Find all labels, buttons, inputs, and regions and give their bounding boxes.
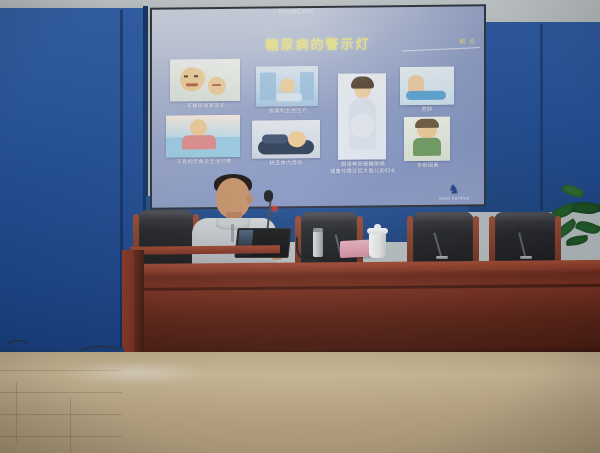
slide-caption-illness-stress: 疾病和生活压力	[252, 107, 324, 115]
slide-caption-family-history: 有糖尿病家族史	[160, 102, 252, 110]
slide-tile-no-exercise	[252, 120, 320, 159]
novo-nordisk-logo-text: novo nordisk	[432, 195, 476, 200]
floor-reflection	[60, 360, 210, 386]
slide-caption-no-exercise: 缺乏体力活动	[248, 159, 324, 167]
tile-art-no-exercise	[252, 120, 320, 159]
chair-frame-right	[555, 216, 561, 266]
tile-art-family-history	[170, 59, 240, 102]
microphone-base	[520, 256, 532, 259]
chair-headrest	[303, 214, 354, 223]
cup-lid-knob	[374, 224, 381, 229]
slide-section-badge: 概 论	[459, 36, 476, 45]
presenter-shirt-placket	[231, 224, 234, 242]
chair-headrest	[416, 214, 471, 223]
lidded-cup	[369, 232, 386, 258]
slide-tile-obesity	[400, 67, 454, 106]
tile-art-elderly	[404, 117, 450, 161]
wall-panel-seam-right	[540, 24, 543, 210]
chair-frame-left	[407, 216, 413, 266]
chair-frame-right	[473, 216, 479, 266]
chair-frame-left	[489, 216, 495, 266]
lecture-hall-photo: NovoCare 糖尿病的警示灯 概 论 有糖尿病家族史	[0, 0, 600, 453]
floor-cable-loop-2	[78, 346, 124, 364]
slide-caption-pregnancy-line2: 或曾分娩过巨大胎儿的妇女	[312, 168, 414, 176]
slide-caption-poor-diet: 不良的饮食及生活习惯	[152, 158, 256, 166]
presenter-ear	[246, 194, 253, 204]
slide-caption-elderly: 年龄因素	[404, 162, 452, 170]
tile-art-pregnancy	[338, 73, 386, 160]
tile-art-poor-diet	[166, 115, 240, 158]
microphone-head	[432, 228, 437, 231]
slide-title: 糖尿病的警示灯	[152, 32, 484, 54]
tile-art-illness-stress	[256, 66, 318, 107]
water-bottle-cap	[313, 228, 323, 232]
chair-headrest	[141, 212, 190, 221]
tile-art-obesity	[400, 67, 454, 106]
slide-tile-illness-stress	[256, 66, 318, 107]
floor-cable-loop-1	[4, 340, 32, 360]
slide-tile-elderly	[404, 117, 450, 161]
water-bottle	[313, 231, 323, 257]
microphone-indicator-light	[272, 206, 277, 211]
chair-headrest	[498, 214, 553, 223]
podium-microphone-head	[264, 190, 273, 202]
slide-tile-pregnancy	[338, 73, 386, 160]
slide-tile-family-history	[170, 59, 240, 102]
microphone-head	[516, 228, 521, 231]
novo-nordisk-logo: ♞ novo nordisk	[432, 183, 476, 200]
podium-upper-ledge	[130, 245, 280, 255]
novocare-watermark: NovoCare	[236, 6, 356, 16]
apis-bull-icon: ♞	[432, 183, 476, 195]
slide-caption-obesity: 肥胖	[402, 106, 452, 114]
microphone-base	[436, 256, 448, 259]
slide-tile-poor-diet	[166, 115, 240, 158]
microphone-head	[333, 230, 338, 233]
